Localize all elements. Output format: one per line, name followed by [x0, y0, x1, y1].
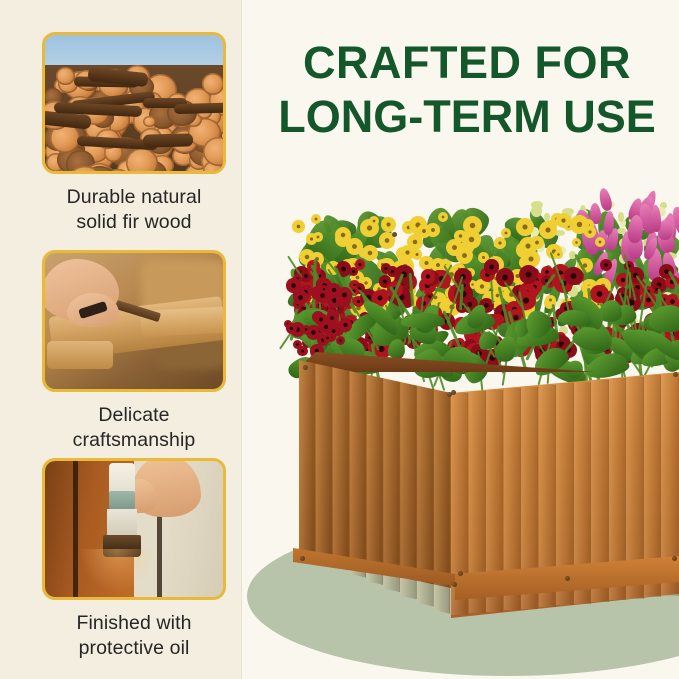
log-end [56, 67, 74, 85]
feature-card-protective-oil: Finished with protective oil [42, 458, 226, 661]
feature-thumbnail-oil-brush [42, 458, 226, 600]
brush-label [109, 491, 135, 509]
product-infographic: CRAFTED FOR LONG-TERM USE [0, 0, 679, 679]
feature-caption-2: Delicate craftsmanship [42, 403, 226, 453]
feature-card-durable-fir-wood: Durable natural solid fir wood [42, 32, 226, 235]
headline-line-1: CRAFTED FOR [262, 36, 672, 90]
log-bark-side [143, 133, 193, 147]
panel-divider [241, 0, 242, 679]
feature-thumbnail-stacked-logs [42, 32, 226, 174]
wet-oil-sheen [79, 549, 155, 593]
feature-caption-3: Finished with protective oil [42, 611, 226, 661]
headline: CRAFTED FOR LONG-TERM USE [262, 36, 672, 144]
log-bark-side [174, 102, 223, 114]
deck-board-gap-left [73, 461, 78, 597]
feature-caption-3-line-1: Finished with [42, 611, 226, 636]
feature-card-delicate-craftsmanship: Delicate craftsmanship [42, 250, 226, 453]
feature-caption-1-line-2: solid fir wood [42, 210, 226, 235]
wood-edge-highlight [47, 341, 113, 369]
headline-line-2: LONG-TERM USE [262, 90, 672, 144]
feature-caption-1: Durable natural solid fir wood [42, 185, 226, 235]
feature-caption-3-line-2: protective oil [42, 636, 226, 661]
feature-thumbnail-woodworking-hands [42, 250, 226, 392]
feature-caption-1-line-1: Durable natural [42, 185, 226, 210]
log-end [126, 148, 158, 171]
feature-caption-2-line-2: craftsmanship [42, 428, 226, 453]
log-end [202, 73, 223, 95]
feature-caption-2-line-1: Delicate [42, 403, 226, 428]
